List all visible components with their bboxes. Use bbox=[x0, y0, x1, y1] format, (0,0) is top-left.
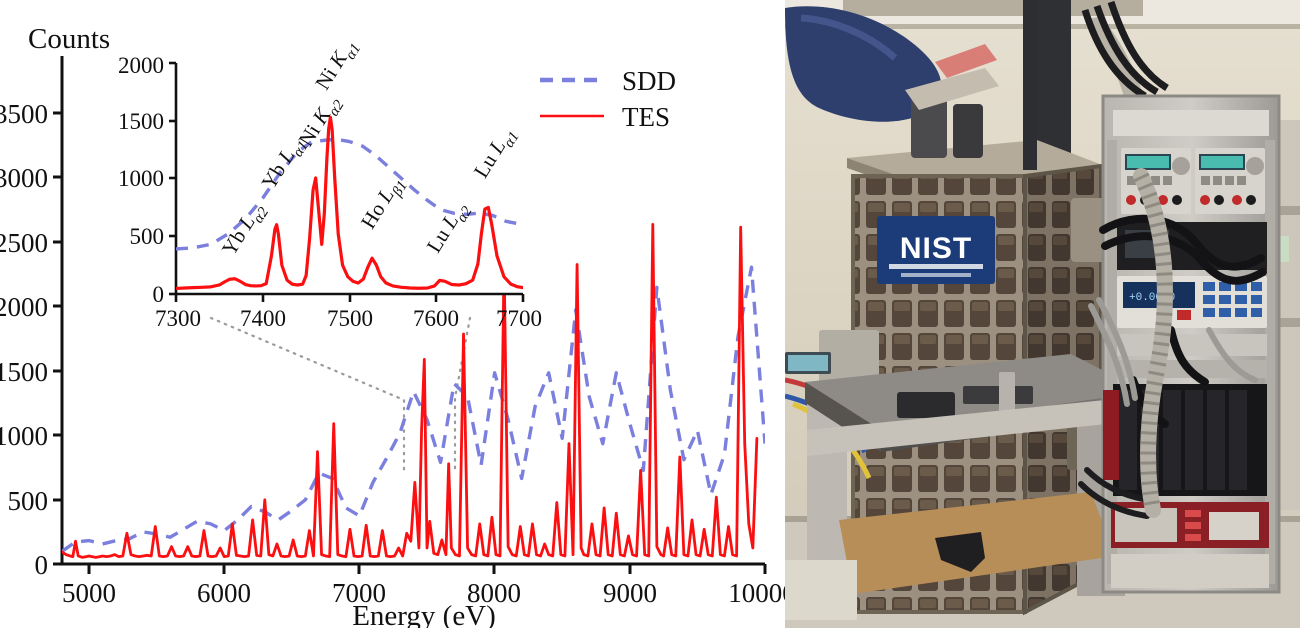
inset-x-tick-7600: 7600 bbox=[413, 306, 459, 331]
psu2-knob bbox=[1246, 157, 1264, 175]
nist-logo: NIST bbox=[877, 216, 995, 284]
crate-side-red-panel bbox=[1103, 390, 1119, 480]
main-y-tick-3500: 3500 bbox=[0, 99, 48, 129]
inset-x-tick-7300: 7300 bbox=[155, 306, 201, 331]
psu1-display-readout bbox=[1127, 156, 1169, 168]
spectrum-figure-panel: 0 500 1000 1500 2000 2500 3000 3500 bbox=[0, 0, 785, 628]
nist-logo-subline-2 bbox=[901, 273, 971, 277]
main-y-tick-1000: 1000 bbox=[0, 421, 48, 451]
nist-logo-text: NIST bbox=[900, 232, 972, 265]
inset-y-tick-0: 0 bbox=[153, 282, 165, 307]
inset-y-tick-1000: 1000 bbox=[118, 166, 164, 191]
pdu-indicators bbox=[1185, 510, 1201, 541]
rack-multimeter: +0.0000 bbox=[1117, 276, 1267, 328]
main-y-tick-3000: 3000 bbox=[0, 163, 48, 193]
main-x-tick-6000: 6000 bbox=[197, 578, 251, 608]
rack-power-supply-2 bbox=[1195, 148, 1265, 214]
inset-y-tick-1500: 1500 bbox=[118, 109, 164, 134]
inset-x-tick-7700: 7700 bbox=[496, 306, 542, 331]
pdu-outlet-block bbox=[1209, 512, 1259, 540]
rack-bottom-panel bbox=[1111, 554, 1269, 588]
main-y-axis-title: Counts bbox=[28, 23, 110, 55]
stage-actuator bbox=[999, 372, 1015, 412]
legend-label-tes: TES bbox=[622, 102, 670, 132]
inset-background bbox=[176, 63, 523, 294]
rack-top-rail bbox=[1113, 110, 1269, 136]
main-y-tick-2500: 2500 bbox=[0, 228, 48, 258]
main-y-tick-2000: 2000 bbox=[0, 292, 48, 322]
psu2-display-readout bbox=[1201, 156, 1243, 168]
multimeter-power-button bbox=[1177, 310, 1191, 320]
nist-logo-subline-1 bbox=[889, 264, 983, 269]
inset-y-tick-2000: 2000 bbox=[118, 53, 164, 78]
main-x-tick-5000: 5000 bbox=[62, 578, 116, 608]
floor-frame-left bbox=[785, 560, 857, 620]
main-y-tick-0: 0 bbox=[35, 550, 49, 580]
snout-block-2 bbox=[953, 104, 983, 158]
rack-blank-1 bbox=[1117, 334, 1267, 356]
main-y-tick-1500: 1500 bbox=[0, 357, 48, 387]
main-x-tick-9000: 9000 bbox=[603, 578, 657, 608]
lab-photograph-image: NIST bbox=[785, 0, 1300, 628]
vertical-post bbox=[1023, 0, 1037, 170]
lab-photograph: NIST bbox=[785, 0, 1300, 628]
legend-label-sdd: SDD bbox=[622, 66, 676, 96]
main-y-tick-500: 500 bbox=[8, 486, 49, 516]
inset-x-tick-7400: 7400 bbox=[240, 306, 286, 331]
stage-linear-rail bbox=[963, 386, 1033, 404]
spectrum-chart: 0 500 1000 1500 2000 2500 3000 3500 bbox=[0, 0, 785, 628]
stage-motor bbox=[897, 392, 955, 418]
main-x-axis-title: Energy (eV) bbox=[352, 600, 496, 628]
electronics-rack: +0.0000 bbox=[1103, 96, 1279, 592]
main-x-tick-10000: 10000 bbox=[728, 578, 785, 608]
psu1-knob bbox=[1172, 157, 1190, 175]
wall-display-screen bbox=[788, 355, 828, 371]
inset-y-tick-500: 500 bbox=[130, 224, 165, 249]
inset-x-tick-7500: 7500 bbox=[327, 306, 373, 331]
figure-photo-composite: 0 500 1000 1500 2000 2500 3000 3500 bbox=[0, 0, 1300, 628]
